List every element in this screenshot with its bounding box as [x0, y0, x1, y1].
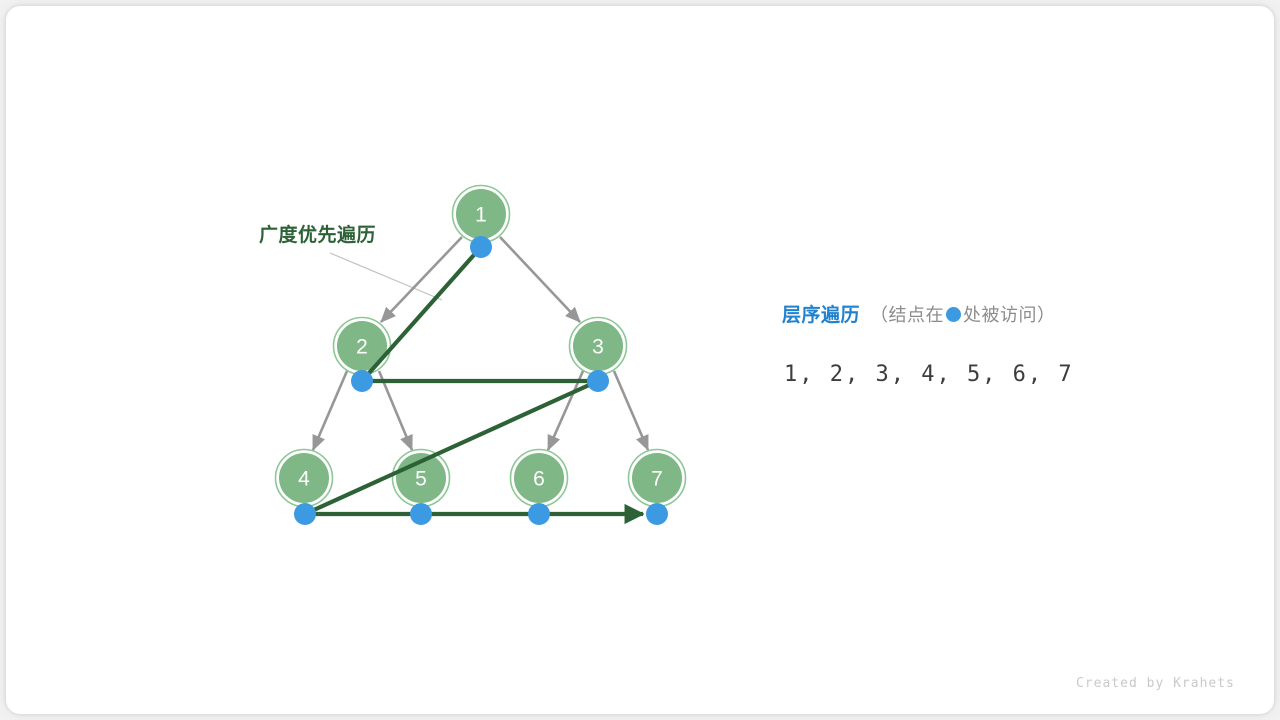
- tree-edge-2-4: [313, 371, 347, 450]
- node-label-2: 2: [356, 336, 368, 359]
- watermark: Created by Krahets: [1076, 676, 1235, 691]
- node-label-6: 6: [533, 468, 545, 491]
- tree-edge-3-7: [614, 371, 648, 450]
- visit-dot-icon-1[interactable]: [470, 236, 492, 258]
- visit-dot-icon-4[interactable]: [294, 503, 316, 525]
- diagram-stage: 1 2 3 4 5 6 7: [0, 0, 1280, 720]
- legend-note-before: （结点在: [870, 305, 944, 325]
- tree-edge-1-3: [500, 237, 580, 322]
- visit-dot-icon-7[interactable]: [646, 503, 668, 525]
- tree-node-4[interactable]: 4: [279, 453, 329, 503]
- tree-diagram-svg: 1 2 3 4 5 6 7: [0, 0, 1280, 720]
- blue-visit-dot-icon: [946, 307, 961, 322]
- visit-dot-icon-2[interactable]: [351, 370, 373, 392]
- bfs-caption: 广度优先遍历: [259, 220, 376, 247]
- node-label-4: 4: [298, 468, 310, 491]
- node-label-1: 1: [475, 204, 487, 227]
- tree-node-1[interactable]: 1: [456, 189, 506, 239]
- tree-node-3[interactable]: 3: [573, 321, 623, 371]
- tree-node-7[interactable]: 7: [632, 453, 682, 503]
- legend: 层序遍历（结点在处被访问）: [782, 300, 1056, 327]
- visit-dot-icon-3[interactable]: [587, 370, 609, 392]
- legend-note-after: 处被访问）: [963, 305, 1056, 325]
- visit-dot-icon-5[interactable]: [410, 503, 432, 525]
- tree-node-6[interactable]: 6: [514, 453, 564, 503]
- visit-dot-icon-6[interactable]: [528, 503, 550, 525]
- path-segment-1-2: [362, 247, 481, 381]
- node-label-5: 5: [415, 468, 427, 491]
- node-label-7: 7: [651, 468, 663, 491]
- legend-title: 层序遍历: [782, 305, 860, 326]
- traversal-sequence: 1, 2, 3, 4, 5, 6, 7: [784, 362, 1074, 387]
- node-label-3: 3: [592, 336, 604, 359]
